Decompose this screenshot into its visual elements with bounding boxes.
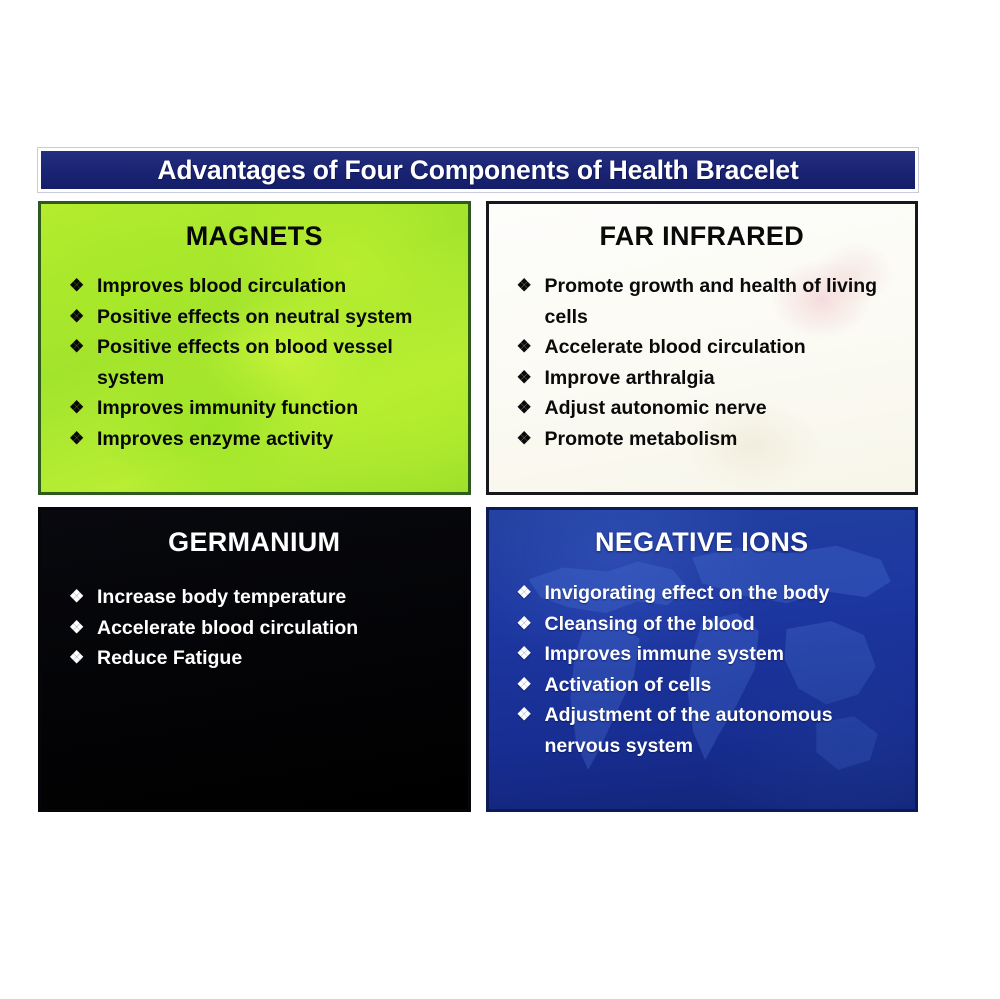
list-item-label: Invigorating effect on the body <box>545 582 830 604</box>
page-title: Advantages of Four Components of Health … <box>157 155 798 186</box>
list-item: ❖Improves blood circulation <box>55 271 454 302</box>
list-item-label: Improve arthralgia <box>545 367 715 389</box>
panel-negative-ions: NEGATIVE IONS ❖Invigorating effect on th… <box>486 507 919 812</box>
diamond-bullet-icon: ❖ <box>69 332 84 363</box>
panel-heading-negative-ions: NEGATIVE IONS <box>503 527 902 558</box>
list-item: ❖Improves immunity function <box>55 393 454 424</box>
list-item: ❖Positive effects on blood vessel system <box>55 332 454 393</box>
list-item-label: Activation of cells <box>545 674 712 696</box>
diamond-bullet-icon: ❖ <box>517 639 532 670</box>
list-item: ❖Promote metabolism <box>503 424 902 455</box>
diamond-bullet-icon: ❖ <box>69 582 84 613</box>
list-item: ❖Improve arthralgia <box>503 363 902 394</box>
list-item-label: Reduce Fatigue <box>97 647 242 669</box>
diamond-bullet-icon: ❖ <box>517 609 532 640</box>
diamond-bullet-icon: ❖ <box>69 302 84 333</box>
diamond-bullet-icon: ❖ <box>69 271 84 302</box>
list-item: ❖Improves enzyme activity <box>55 424 454 455</box>
diamond-bullet-icon: ❖ <box>517 332 532 363</box>
list-item-label: Improves enzyme activity <box>97 428 333 450</box>
list-item: ❖Activation of cells <box>503 670 902 701</box>
list-item-label: Promote growth and health of living cell… <box>545 275 878 328</box>
list-item: ❖Adjust autonomic nerve <box>503 393 902 424</box>
list-item: ❖Adjustment of the autonomous nervous sy… <box>503 700 902 761</box>
panel-grid: MAGNETS ❖Improves blood circulation ❖Pos… <box>38 201 918 812</box>
list-item-label: Cleansing of the blood <box>545 613 755 635</box>
list-item: ❖Accelerate blood circulation <box>503 332 902 363</box>
panel-magnets: MAGNETS ❖Improves blood circulation ❖Pos… <box>38 201 471 495</box>
list-item-label: Accelerate blood circulation <box>545 336 806 358</box>
list-item: ❖Improves immune system <box>503 639 902 670</box>
list-item-label: Adjust autonomic nerve <box>545 397 767 419</box>
diamond-bullet-icon: ❖ <box>517 393 532 424</box>
list-item-label: Adjustment of the autonomous nervous sys… <box>545 704 833 757</box>
list-item: ❖Cleansing of the blood <box>503 609 902 640</box>
list-item-label: Positive effects on blood vessel system <box>97 336 393 389</box>
bullet-list-negative-ions: ❖Invigorating effect on the body ❖Cleans… <box>503 578 902 761</box>
list-item-label: Promote metabolism <box>545 428 738 450</box>
bullet-list-germanium: ❖Increase body temperature ❖Accelerate b… <box>55 582 454 674</box>
infographic-root: Advantages of Four Components of Health … <box>38 148 918 822</box>
panel-heading-magnets: MAGNETS <box>55 221 454 252</box>
panel-heading-far-infrared: FAR INFRARED <box>503 221 902 252</box>
list-item-label: Accelerate blood circulation <box>97 617 358 639</box>
list-item: ❖Promote growth and health of living cel… <box>503 271 902 332</box>
diamond-bullet-icon: ❖ <box>517 271 532 302</box>
list-item: ❖Positive effects on neutral system <box>55 302 454 333</box>
list-item: ❖Accelerate blood circulation <box>55 613 454 644</box>
bullet-list-far-infrared: ❖Promote growth and health of living cel… <box>503 271 902 454</box>
diamond-bullet-icon: ❖ <box>69 643 84 674</box>
list-item: ❖Reduce Fatigue <box>55 643 454 674</box>
list-item-label: Improves immune system <box>545 643 785 665</box>
bullet-list-magnets: ❖Improves blood circulation ❖Positive ef… <box>55 271 454 454</box>
diamond-bullet-icon: ❖ <box>517 363 532 394</box>
diamond-bullet-icon: ❖ <box>69 424 84 455</box>
diamond-bullet-icon: ❖ <box>69 613 84 644</box>
diamond-bullet-icon: ❖ <box>517 700 532 731</box>
list-item-label: Improves blood circulation <box>97 275 346 297</box>
panel-far-infrared: FAR INFRARED ❖Promote growth and health … <box>486 201 919 495</box>
panel-germanium: GERMANIUM ❖Increase body temperature ❖Ac… <box>38 507 471 812</box>
panel-heading-germanium: GERMANIUM <box>55 527 454 558</box>
list-item-label: Positive effects on neutral system <box>97 306 412 328</box>
list-item: ❖Invigorating effect on the body <box>503 578 902 609</box>
list-item: ❖Increase body temperature <box>55 582 454 613</box>
list-item-label: Increase body temperature <box>97 586 346 608</box>
title-banner: Advantages of Four Components of Health … <box>38 148 918 192</box>
diamond-bullet-icon: ❖ <box>517 424 532 455</box>
list-item-label: Improves immunity function <box>97 397 358 419</box>
diamond-bullet-icon: ❖ <box>69 393 84 424</box>
diamond-bullet-icon: ❖ <box>517 670 532 701</box>
diamond-bullet-icon: ❖ <box>517 578 532 609</box>
